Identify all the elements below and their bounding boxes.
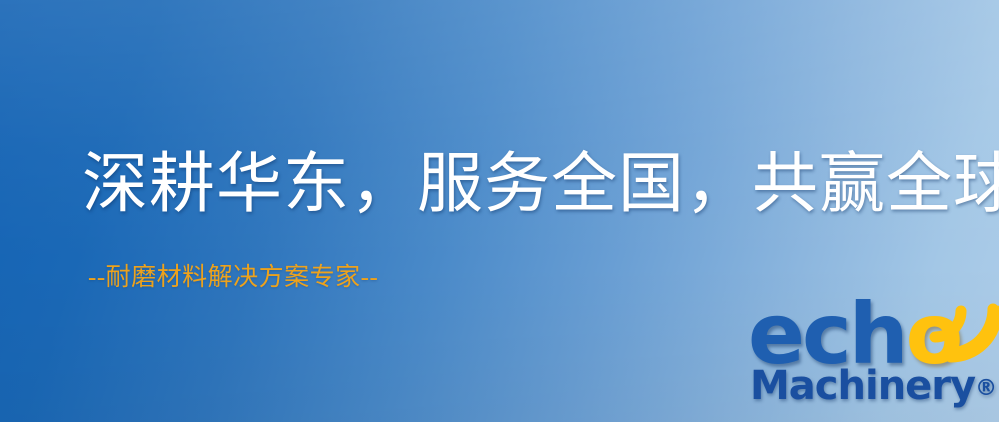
echo-machinery-logo: echo [748,292,999,422]
signal-waves-icon [931,291,999,365]
banner-subtitle: --耐磨材料解决方案专家-- [88,265,378,290]
registered-trademark-icon: ® [975,376,997,401]
logo-sub-wordmark: Machinery® [750,366,997,406]
banner-headline: 深耕华东，服务全国，共赢全球 [82,152,999,218]
logo-sub-text: Machinery [750,363,975,409]
promotional-banner: 深耕华东，服务全国，共赢全球 --耐磨材料解决方案专家-- echo [0,0,999,422]
